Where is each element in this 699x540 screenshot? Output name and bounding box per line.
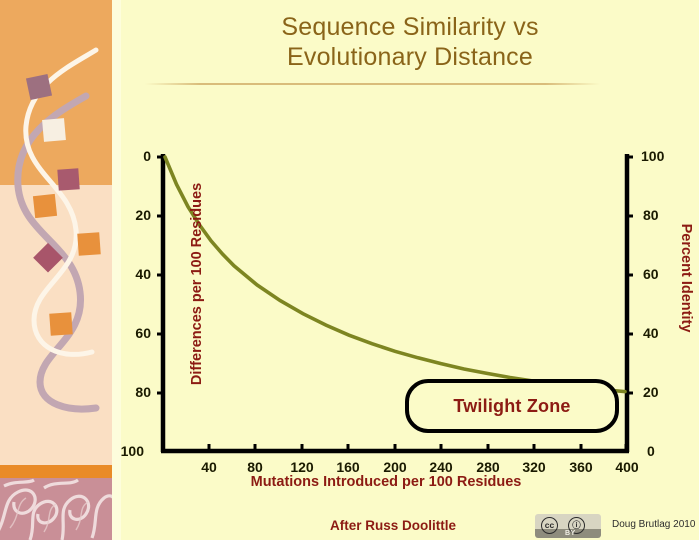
x-tick-40: 40	[189, 459, 229, 475]
title-divider	[145, 83, 600, 85]
twilight-zone-label: Twilight Zone	[453, 396, 570, 417]
x-tick-80: 80	[235, 459, 275, 475]
left-tick-40: 40	[117, 266, 151, 282]
dna-helix-graphic	[0, 0, 112, 478]
left-axis-title: Differences per 100 Residues	[189, 154, 205, 414]
chart-plot	[121, 130, 699, 510]
x-tick-240: 240	[421, 459, 461, 475]
left-tick-100: 100	[110, 443, 144, 459]
page-title: Sequence Similarity vs Evolutionary Dist…	[121, 12, 699, 72]
right-tick-60: 60	[643, 266, 677, 282]
x-tick-120: 120	[282, 459, 322, 475]
title-line-2: Evolutionary Distance	[121, 42, 699, 72]
left-tick-20: 20	[117, 207, 151, 223]
twilight-zone-callout: Twilight Zone	[405, 379, 619, 433]
sidebar-paisley-texture	[0, 478, 112, 540]
author-credit: Doug Brutlag 2010	[612, 519, 695, 530]
right-tick-80: 80	[643, 207, 677, 223]
right-axis-title: Percent Identity	[678, 168, 694, 388]
creative-commons-badge: cc ⓘ BY	[535, 514, 601, 538]
left-tick-80: 80	[117, 384, 151, 400]
x-tick-320: 320	[514, 459, 554, 475]
helix-square-cream	[42, 118, 66, 142]
helix-square-orange-lower	[49, 312, 72, 335]
right-tick-0: 0	[647, 443, 681, 459]
helix-square-orange-right	[77, 232, 100, 255]
helix-square-plum-top	[26, 74, 52, 100]
x-tick-160: 160	[328, 459, 368, 475]
right-tick-20: 20	[643, 384, 677, 400]
helix-square-orange-upper	[33, 194, 57, 218]
slide-canvas: Sequence Similarity vs Evolutionary Dist…	[0, 0, 699, 540]
decorative-sidebar	[0, 0, 112, 540]
left-tick-0: 0	[117, 148, 151, 164]
x-axis-title: Mutations Introduced per 100 Residues	[121, 474, 651, 490]
cc-logo-icon: cc	[541, 517, 558, 534]
right-tick-100: 100	[641, 148, 675, 164]
x-tick-360: 360	[561, 459, 601, 475]
left-tick-60: 60	[117, 325, 151, 341]
similarity-decay-curve	[165, 157, 625, 392]
right-tick-40: 40	[643, 325, 677, 341]
x-axis-ticks	[209, 444, 626, 449]
helix-square-plum-mid	[57, 168, 79, 190]
x-tick-280: 280	[468, 459, 508, 475]
x-tick-200: 200	[375, 459, 415, 475]
cc-by-label: BY	[565, 530, 576, 537]
title-line-1: Sequence Similarity vs	[121, 12, 699, 42]
chart-area: Differences per 100 Residues Percent Ide…	[121, 130, 699, 510]
source-credit: After Russ Doolittle	[330, 518, 456, 533]
x-tick-400: 400	[607, 459, 647, 475]
